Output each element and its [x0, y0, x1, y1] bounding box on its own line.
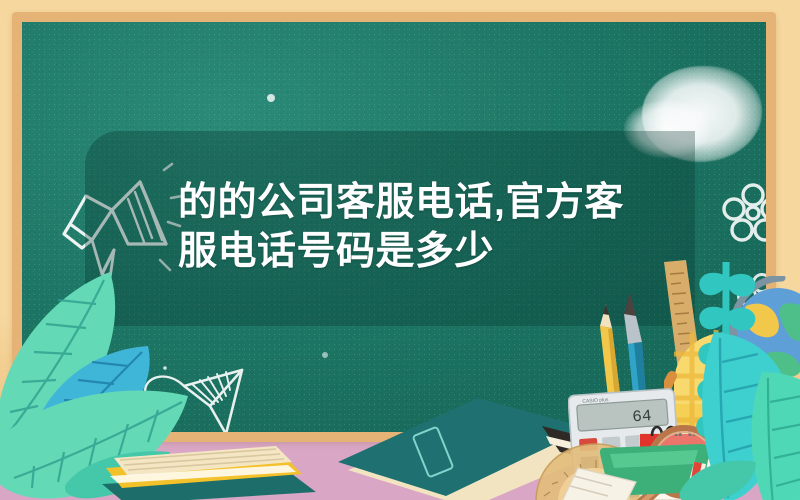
leaf-sprig-bottom-right-icon: [676, 454, 766, 500]
page-title: 的的公司客服电话,官方客服电话号码是多少: [178, 178, 648, 276]
flower-large-icon: [722, 182, 766, 244]
chalk-speck-icon: [267, 94, 275, 102]
chalk-speck-icon: [322, 352, 328, 358]
poster-canvas: 的的公司客服电话,官方客服电话号码是多少: [0, 0, 800, 500]
paper-sheet-icon: [556, 462, 646, 500]
